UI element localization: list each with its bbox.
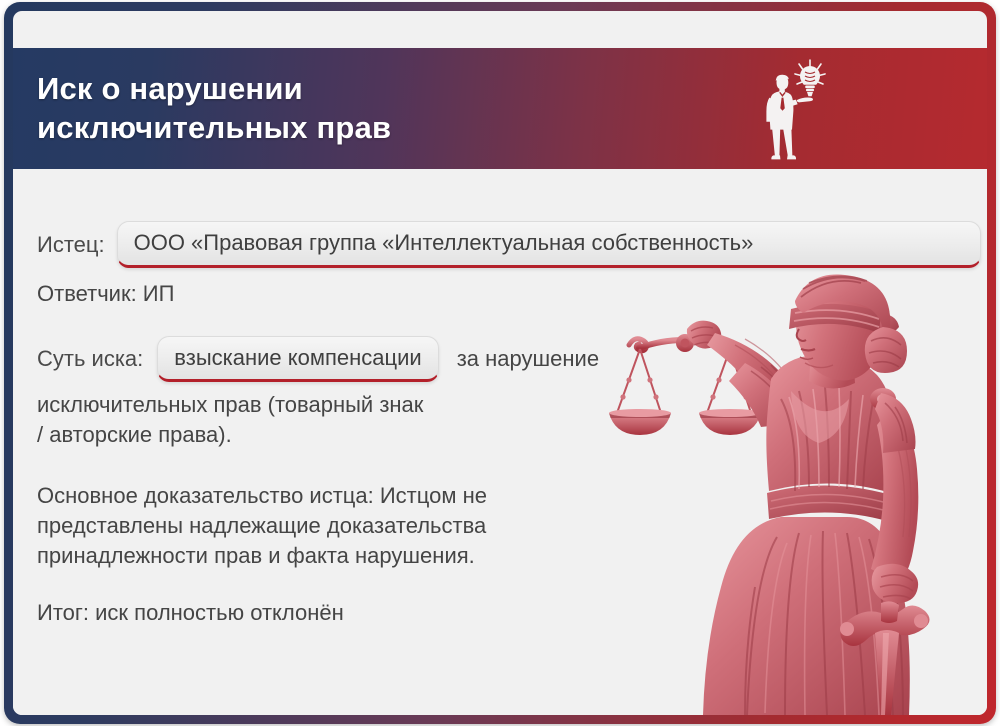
plaintiff-value-pill: ООО «Правовая группа «Интеллектуальная с… [117,221,981,268]
result-text: Итог: иск полностью отклонён [37,598,637,628]
card-inner: Иск о нарушении исключительных прав [13,11,987,715]
case-details: Истец: ООО «Правовая группа «Интеллектуа… [37,221,981,628]
card-header: Иск о нарушении исключительных прав [13,48,987,169]
defendant-row: Ответчик: ИП [37,279,981,308]
plaintiff-label: Истец: [37,230,105,259]
card-body: Истец: ООО «Правовая группа «Интеллектуа… [13,169,987,715]
claim-tail-text: исключительных прав (товарный знак / авт… [37,390,637,451]
claim-label: Суть иска: [37,344,143,373]
plaintiff-row: Истец: ООО «Правовая группа «Интеллектуа… [37,221,981,268]
businessman-with-lightbulb-icon [747,56,837,161]
claim-value-pill: взыскание компенсации [157,336,438,383]
evidence-text: Основное доказательство истца: Истцом не… [37,481,652,572]
claim-after-pill-text: за нарушение [457,344,599,373]
page-title: Иск о нарушении исключительных прав [37,70,391,148]
case-card: Иск о нарушении исключительных прав [4,2,996,724]
claim-row: Суть иска: взыскание компенсации за нару… [37,336,981,383]
